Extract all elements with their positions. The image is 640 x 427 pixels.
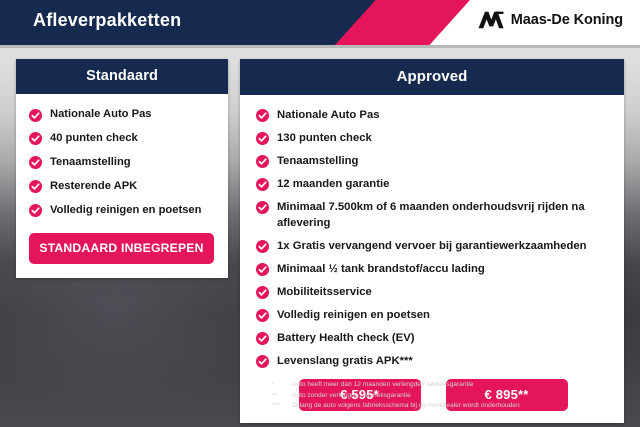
list-item: Minimaal 7.500km of 6 maanden onderhouds… (256, 199, 610, 231)
feature-list-approved: Nationale Auto Pas 130 punten check Tena… (256, 107, 610, 369)
check-circle-icon (256, 309, 269, 322)
check-circle-icon (256, 178, 269, 191)
check-circle-icon (256, 286, 269, 299)
list-item: Minimaal ½ tank brandstof/accu lading (256, 261, 610, 277)
check-circle-icon (256, 240, 269, 253)
card-heading-standaard: Standaard (16, 59, 228, 94)
standaard-inbegrepen-button[interactable]: STANDAARD INBEGREPEN (29, 233, 214, 264)
list-item: Nationale Auto Pas (256, 107, 610, 123)
maas-de-koning-m-mark-icon (478, 11, 504, 29)
feature-label: 12 maanden garantie (277, 176, 389, 192)
check-circle-icon (256, 355, 269, 368)
list-item: 1x Gratis vervangend vervoer bij garanti… (256, 238, 610, 254)
list-item: Mobiliteitsservice (256, 284, 610, 300)
footnotes: * Auto heeft meer dan 12 maanden verleng… (272, 380, 632, 412)
footnote-text: Zolang de auto volgens fabrieksschema bi… (292, 401, 520, 412)
package-card-approved: Approved Nationale Auto Pas 130 punten c… (240, 59, 624, 423)
footnote-item: *** Zolang de auto volgens fabrieksschem… (272, 401, 632, 412)
feature-label: Tenaamstelling (50, 155, 131, 171)
feature-label: Battery Health check (EV) (277, 330, 415, 346)
footnote-marker: *** (272, 401, 292, 412)
feature-list-standaard: Nationale Auto Pas 40 punten check Tenaa… (29, 107, 214, 219)
feature-label: Minimaal 7.500km of 6 maanden onderhouds… (277, 199, 610, 231)
list-item: Tenaamstelling (29, 155, 214, 171)
brand-logo: Maas-De Koning (478, 11, 623, 29)
card-body-standaard: Nationale Auto Pas 40 punten check Tenaa… (16, 94, 228, 278)
page-header: Afleverpakketten Maas-De Koning (0, 0, 640, 45)
feature-label: 40 punten check (50, 131, 138, 147)
check-circle-icon (256, 263, 269, 276)
feature-label: 1x Gratis vervangend vervoer bij garanti… (277, 238, 587, 254)
list-item: Levenslang gratis APK*** (256, 353, 610, 369)
footnote-marker: * (272, 380, 292, 391)
header-divider (0, 45, 640, 48)
feature-label: Mobiliteitsservice (277, 284, 372, 300)
package-card-standaard: Standaard Nationale Auto Pas 40 punten c… (16, 59, 228, 278)
footnote-marker: ** (272, 391, 292, 402)
check-circle-icon (29, 180, 42, 193)
footnote-item: * Auto heeft meer dan 12 maanden verleng… (272, 380, 632, 391)
check-circle-icon (256, 201, 269, 214)
feature-label: 130 punten check (277, 130, 372, 146)
card-heading-approved: Approved (240, 59, 624, 95)
feature-label: Minimaal ½ tank brandstof/accu lading (277, 261, 485, 277)
check-circle-icon (256, 132, 269, 145)
list-item: 12 maanden garantie (256, 176, 610, 192)
list-item: Nationale Auto Pas (29, 107, 214, 123)
list-item: Volledig reinigen en poetsen (29, 203, 214, 219)
feature-label: Resterende APK (50, 179, 137, 195)
check-circle-icon (256, 109, 269, 122)
list-item: Resterende APK (29, 179, 214, 195)
check-circle-icon (256, 332, 269, 345)
feature-label: Tenaamstelling (277, 153, 358, 169)
list-item: 130 punten check (256, 130, 610, 146)
feature-label: Nationale Auto Pas (277, 107, 380, 123)
list-item: 40 punten check (29, 131, 214, 147)
check-circle-icon (29, 109, 42, 122)
footnote-text: Auto heeft meer dan 12 maanden verlengde… (292, 380, 473, 391)
check-circle-icon (29, 204, 42, 217)
check-circle-icon (29, 132, 42, 145)
page-title: Afleverpakketten (33, 10, 181, 31)
feature-label: Volledig reinigen en poetsen (50, 203, 201, 219)
brand-name: Maas-De Koning (511, 12, 623, 28)
list-item: Tenaamstelling (256, 153, 610, 169)
footnote-item: ** Auto zonder verlengde / fabrieksgaran… (272, 391, 632, 402)
feature-label: Nationale Auto Pas (50, 107, 152, 123)
list-item: Battery Health check (EV) (256, 330, 610, 346)
feature-label: Levenslang gratis APK*** (277, 353, 413, 369)
card-body-approved: Nationale Auto Pas 130 punten check Tena… (240, 95, 624, 423)
check-circle-icon (256, 155, 269, 168)
footnote-text: Auto zonder verlengde / fabrieksgarantie (292, 391, 411, 402)
check-circle-icon (29, 156, 42, 169)
feature-label: Volledig reinigen en poetsen (277, 307, 430, 323)
list-item: Volledig reinigen en poetsen (256, 307, 610, 323)
